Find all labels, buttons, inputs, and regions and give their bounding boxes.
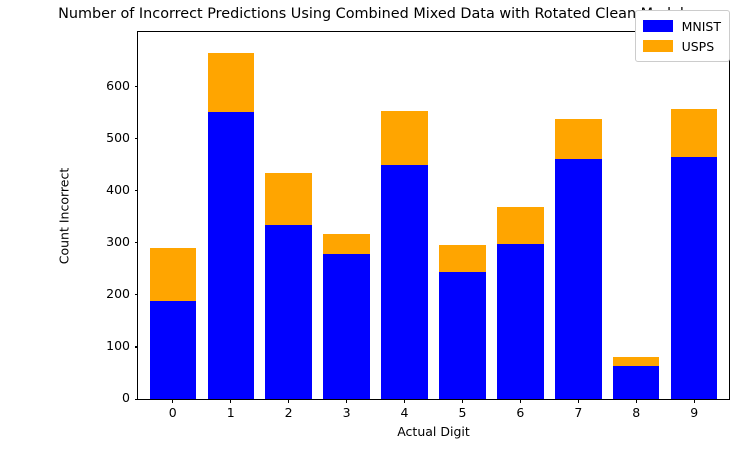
y-tick-mark (135, 399, 139, 400)
bar-segment-usps[interactable] (265, 173, 311, 225)
bar-segment-mnist[interactable] (671, 157, 717, 399)
bar-group[interactable] (208, 53, 254, 399)
bar-group[interactable] (497, 207, 543, 399)
bar-segment-mnist[interactable] (265, 225, 311, 399)
x-tick-label: 5 (442, 405, 482, 420)
bar-segment-usps[interactable] (150, 248, 196, 301)
bar-segment-usps[interactable] (555, 119, 601, 159)
bar-group[interactable] (439, 245, 485, 399)
x-tick-label: 7 (558, 405, 598, 420)
bar-segment-mnist[interactable] (150, 301, 196, 399)
legend-label: MNIST (682, 19, 721, 34)
bar-group[interactable] (381, 111, 427, 399)
legend-swatch-icon (643, 20, 673, 32)
bars-layer (138, 32, 729, 399)
bar-group[interactable] (671, 109, 717, 399)
x-tick-mark (694, 399, 695, 403)
y-tick-label: 200 (106, 286, 130, 301)
bar-group[interactable] (555, 119, 601, 399)
bar-group[interactable] (323, 234, 369, 399)
x-tick-mark (520, 399, 521, 403)
chart-title: Number of Incorrect Predictions Using Co… (0, 6, 742, 22)
y-tick-label: 0 (122, 390, 130, 405)
x-tick-mark (346, 399, 347, 403)
x-tick-label: 3 (327, 405, 367, 420)
bar-segment-usps[interactable] (208, 53, 254, 112)
bar-segment-mnist[interactable] (613, 366, 659, 399)
y-tick-mark (135, 346, 139, 347)
x-tick-mark (288, 399, 289, 403)
plot-area: 0100200300400500600 0123456789 (137, 31, 730, 400)
bar-segment-mnist[interactable] (323, 254, 369, 399)
bar-segment-usps[interactable] (323, 234, 369, 254)
bar-group[interactable] (265, 173, 311, 399)
y-tick-label: 300 (106, 234, 130, 249)
bar-group[interactable] (150, 248, 196, 399)
x-tick-mark (578, 399, 579, 403)
legend-label: USPS (682, 39, 715, 54)
bar-segment-usps[interactable] (613, 357, 659, 366)
bar-segment-usps[interactable] (497, 207, 543, 244)
legend-swatch-icon (643, 40, 673, 52)
x-tick-label: 1 (211, 405, 251, 420)
y-tick-mark (135, 294, 139, 295)
y-axis-label: Count Incorrect (57, 168, 72, 264)
bar-segment-usps[interactable] (671, 109, 717, 158)
bar-group[interactable] (613, 357, 659, 399)
y-tick-mark (135, 86, 139, 87)
x-tick-label: 0 (153, 405, 193, 420)
y-tick-label: 500 (106, 130, 130, 145)
x-tick-label: 4 (385, 405, 425, 420)
x-tick-label: 6 (500, 405, 540, 420)
chart-legend: MNISTUSPS (635, 10, 730, 62)
bar-segment-mnist[interactable] (497, 244, 543, 399)
x-tick-mark (230, 399, 231, 403)
x-tick-mark (636, 399, 637, 403)
y-tick-label: 600 (106, 78, 130, 93)
bar-segment-usps[interactable] (439, 245, 485, 272)
x-tick-label: 9 (674, 405, 714, 420)
bar-segment-mnist[interactable] (208, 112, 254, 399)
bar-segment-mnist[interactable] (555, 159, 601, 399)
y-tick-label: 400 (106, 182, 130, 197)
y-tick-label: 100 (106, 338, 130, 353)
x-tick-label: 2 (269, 405, 309, 420)
bar-segment-mnist[interactable] (439, 272, 485, 399)
legend-item[interactable]: MNIST (643, 16, 721, 36)
chart-figure: Number of Incorrect Predictions Using Co… (0, 0, 742, 455)
bar-segment-usps[interactable] (381, 111, 427, 165)
bar-segment-mnist[interactable] (381, 165, 427, 399)
x-axis-label: Actual Digit (137, 424, 730, 439)
x-tick-mark (462, 399, 463, 403)
x-tick-label: 8 (616, 405, 656, 420)
x-tick-mark (404, 399, 405, 403)
y-tick-mark (135, 242, 139, 243)
x-tick-mark (172, 399, 173, 403)
legend-item[interactable]: USPS (643, 36, 721, 56)
y-tick-mark (135, 190, 139, 191)
y-tick-mark (135, 138, 139, 139)
